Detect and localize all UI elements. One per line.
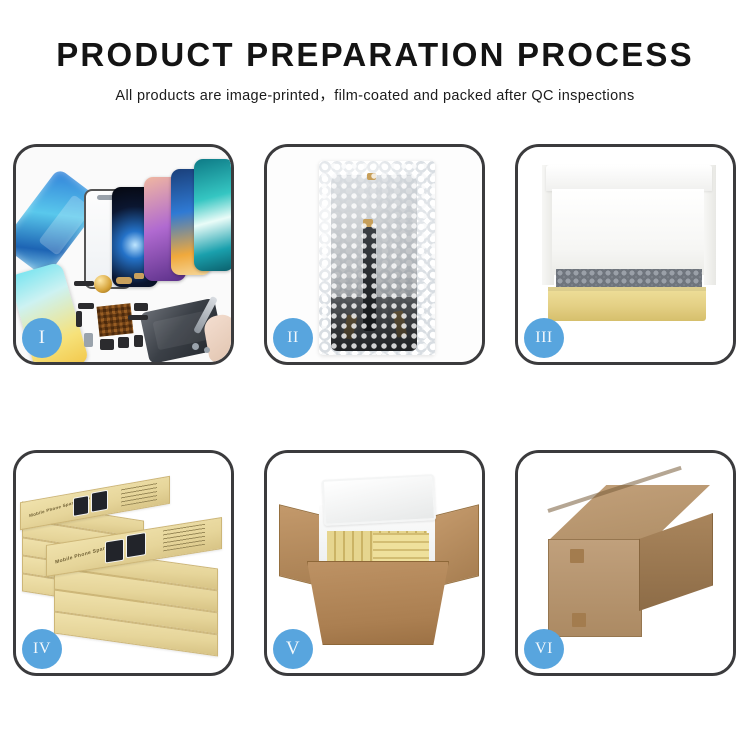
- small-part: [192, 343, 199, 350]
- packed-boxes-row-2: [373, 533, 429, 565]
- small-part: [100, 339, 114, 350]
- box-label-spec-lines: [121, 482, 157, 506]
- small-part: [128, 315, 148, 320]
- step-panel-3[interactable]: III: [515, 144, 736, 365]
- box-label-spec-lines: [163, 524, 205, 552]
- box-label-screen-image: [105, 539, 124, 564]
- step-badge-6: VI: [524, 629, 564, 669]
- phone-display-4: [194, 159, 231, 271]
- carton-tape-lower: [572, 613, 586, 627]
- step-badge-2: II: [273, 318, 313, 358]
- small-part: [204, 347, 210, 353]
- small-part: [134, 303, 148, 311]
- page-subtitle: All products are image-printed，film-coat…: [0, 84, 750, 105]
- step-panel-1[interactable]: I: [13, 144, 234, 365]
- step-panel-5[interactable]: V: [264, 450, 485, 676]
- page-header: PRODUCT PREPARATION PROCESS All products…: [0, 0, 750, 105]
- bubble-texture-overlay: [319, 161, 435, 355]
- page-title: PRODUCT PREPARATION PROCESS: [0, 38, 750, 73]
- box-label-screen-image: [126, 532, 146, 558]
- small-part: [116, 277, 132, 284]
- box-label-screen-image: [73, 495, 89, 517]
- process-steps-grid: I II: [13, 144, 737, 676]
- step-panel-6[interactable]: VI: [515, 450, 736, 676]
- box-lid: [546, 165, 712, 191]
- step-panel-2[interactable]: II: [264, 144, 485, 365]
- step-panel-4[interactable]: Mobile Phone Spare Parts Mobile Phone Sp…: [13, 450, 234, 676]
- small-part: [84, 333, 93, 347]
- step-badge-1: I: [22, 318, 62, 358]
- carton-tape-upper: [570, 549, 584, 563]
- small-part: [134, 273, 144, 279]
- step-badge-3: III: [524, 318, 564, 358]
- gold-coil-part: [94, 275, 112, 293]
- step-badge-5: V: [273, 629, 313, 669]
- step-badge-4: IV: [22, 629, 62, 669]
- small-part: [78, 303, 94, 309]
- screw-grid-part: [97, 303, 134, 336]
- small-part: [74, 281, 94, 286]
- small-part: [134, 335, 143, 347]
- kraft-box-tray: [548, 287, 706, 321]
- carton-body: [307, 561, 449, 645]
- small-part: [76, 311, 82, 327]
- box-label-screen-image: [91, 490, 108, 513]
- small-part: [118, 337, 129, 348]
- box-inner-foam-wall: [552, 189, 704, 275]
- hand: [202, 313, 231, 362]
- foam-container-lid: [322, 474, 436, 526]
- carton-front-face: [548, 539, 642, 637]
